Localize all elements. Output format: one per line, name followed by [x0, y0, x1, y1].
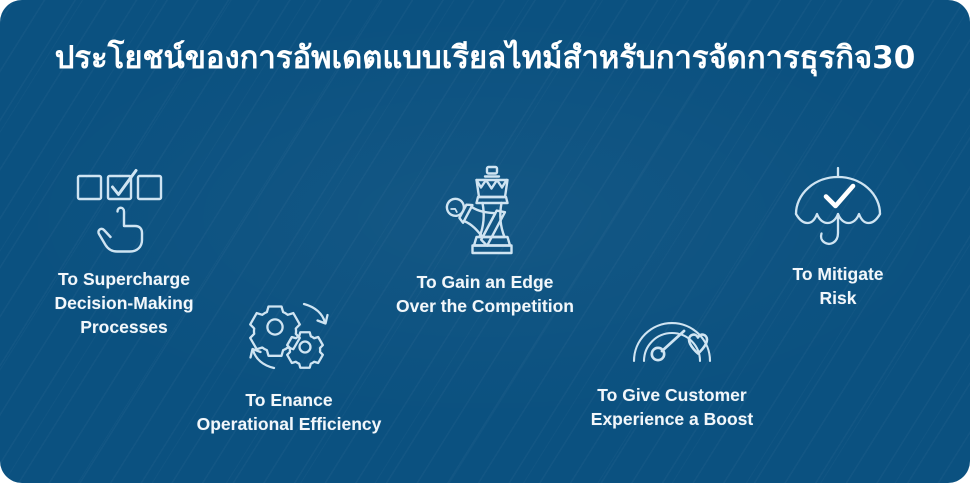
benefit-label-efficiency: To Enance Operational Efficiency	[197, 388, 382, 436]
benefit-item-edge: To Gain an Edge Over the Competition	[373, 163, 597, 318]
benefit-label-customer: To Give Customer Experience a Boost	[591, 383, 753, 431]
umbrella-checkmark-icon	[790, 166, 886, 250]
checkbox-list-pointing-hand-icon	[70, 168, 178, 258]
benefit-label-supercharge: To Supercharge Decision-Making Processes	[54, 267, 193, 339]
infographic-card: ประโยชน์ของการอัพเดตแบบเรียลไทม์สำหรับกา…	[0, 0, 970, 483]
benefit-label-edge: To Gain an Edge Over the Competition	[396, 270, 574, 318]
chess-queen-fallen-pawn-icon	[430, 163, 540, 258]
benefit-label-risk: To Mitigate Risk	[792, 262, 883, 310]
benefit-item-efficiency: To Enance Operational Efficiency	[178, 298, 400, 436]
gauge-heart-icon	[626, 303, 718, 369]
benefit-item-customer: To Give Customer Experience a Boost	[568, 303, 776, 431]
page-title: ประโยชน์ของการอัพเดตแบบเรียลไทม์สำหรับกา…	[0, 40, 970, 77]
gears-cycle-icon	[243, 298, 335, 374]
benefit-item-risk: To Mitigate Risk	[752, 166, 924, 310]
